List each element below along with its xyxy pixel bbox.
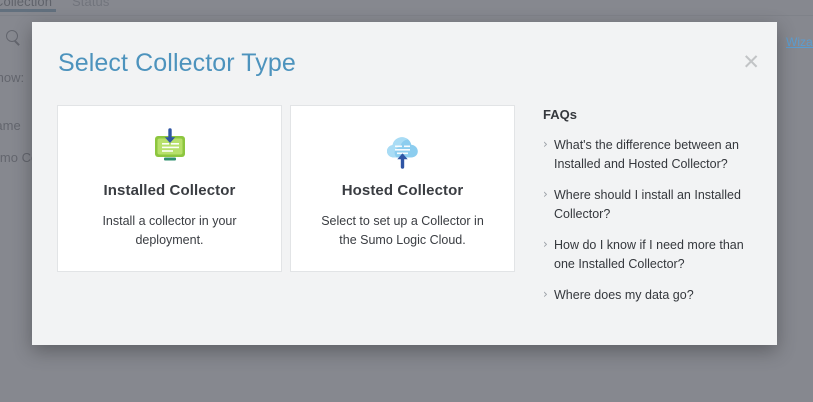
faq-item-0[interactable]: › What's the difference between an Insta… [543,136,759,173]
faq-item-1[interactable]: › Where should I install an Installed Co… [543,186,759,223]
card-hosted-collector[interactable]: Hosted Collector Select to set up a Coll… [290,105,515,272]
dialog-body: Installed Collector Install a collector … [57,105,759,318]
collector-type-cards: Installed Collector Install a collector … [57,105,515,272]
faqs-panel: FAQs › What's the difference between an … [543,105,759,318]
chevron-right-icon: › [543,286,554,302]
monitor-download-icon [149,127,191,171]
card-title: Hosted Collector [342,182,464,199]
card-description: Install a collector in your deployment. [80,212,260,251]
chevron-right-icon: › [543,136,554,152]
faq-item-label: Where should I install an Installed Coll… [554,186,759,223]
faq-item-3[interactable]: › Where does my data go? [543,286,759,305]
cloud-upload-icon [382,127,424,171]
card-description: Select to set up a Collector in the Sumo… [313,212,493,251]
faq-item-label: Where does my data go? [554,286,694,305]
card-installed-collector[interactable]: Installed Collector Install a collector … [57,105,282,272]
setup-wizard-link[interactable]: Wizard [786,35,813,49]
faq-item-label: How do I know if I need more than one In… [554,236,759,273]
select-collector-type-dialog: ✕ Select Collector Type [32,22,777,345]
faqs-heading: FAQs [543,107,759,122]
close-icon[interactable]: ✕ [742,52,760,73]
chevron-right-icon: › [543,186,554,202]
chevron-right-icon: › [543,236,554,252]
faq-item-label: What's the difference between an Install… [554,136,759,173]
faq-item-2[interactable]: › How do I know if I need more than one … [543,236,759,273]
page-title: Select Collector Type [58,49,296,78]
card-title: Installed Collector [104,182,236,199]
